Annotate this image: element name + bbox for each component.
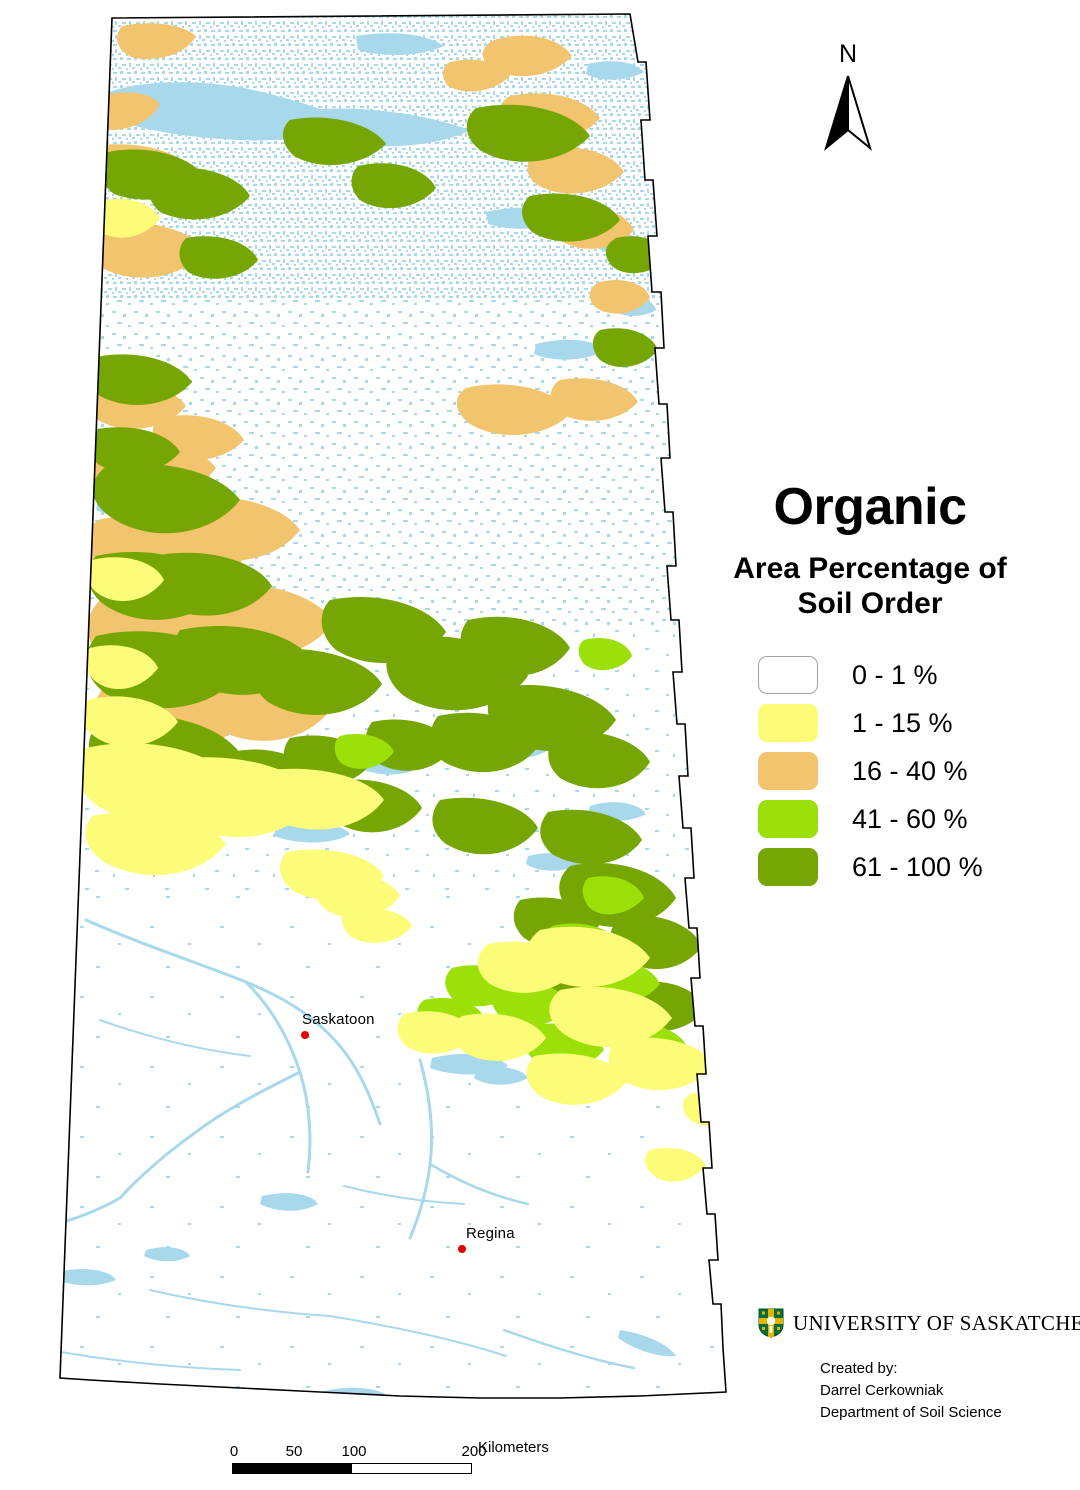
legend-item-1-15[interactable]: 1 - 15 % <box>758 699 1080 747</box>
credit-author: Darrel Cerkowniak <box>820 1380 1002 1402</box>
saskatchewan-map[interactable] <box>0 0 760 1490</box>
scale-tick-50: 50 <box>286 1443 303 1460</box>
legend-swatch-0-1 <box>758 656 818 694</box>
map-title: Organic <box>700 480 1040 535</box>
city-label-regina: Regina <box>466 1225 515 1242</box>
map-page: Saskatoon Regina N Organic Area Percenta… <box>0 0 1080 1490</box>
legend-items: 0 - 1 % 1 - 15 % 16 - 40 % 41 - 60 % 61 … <box>758 651 1080 891</box>
scale-bar-graphic <box>232 1463 472 1474</box>
legend-swatch-41-60 <box>758 800 818 838</box>
city-marker-saskatoon[interactable] <box>301 1031 309 1039</box>
legend-swatch-61-100 <box>758 848 818 886</box>
city-label-saskatoon: Saskatoon <box>302 1011 375 1028</box>
legend-item-61-100[interactable]: 61 - 100 % <box>758 843 1080 891</box>
university-shield-icon <box>758 1308 784 1338</box>
university-wordmark: UNIVERSITY OF SASKATCHEWAN <box>793 1311 1080 1336</box>
legend-label-16-40: 16 - 40 % <box>852 756 968 787</box>
map-subtitle-line1: Area Percentage of <box>700 551 1040 586</box>
north-arrow: N <box>812 40 884 155</box>
scale-bar: 0 50 100 200 Kilometers <box>232 1443 552 1474</box>
credit-department: Department of Soil Science <box>820 1402 1002 1424</box>
scale-bar-fill <box>233 1464 352 1473</box>
legend-item-41-60[interactable]: 41 - 60 % <box>758 795 1080 843</box>
scale-tick-100: 100 <box>341 1443 366 1460</box>
map-subtitle-line2: Soil Order <box>700 586 1040 621</box>
map-subtitle: Area Percentage of Soil Order <box>700 551 1040 622</box>
credit-label: Created by: <box>820 1358 1002 1380</box>
scale-tick-0: 0 <box>230 1443 238 1460</box>
scale-bar-unit: Kilometers <box>478 1439 549 1456</box>
legend-label-1-15: 1 - 15 % <box>852 708 953 739</box>
legend-item-0-1[interactable]: 0 - 1 % <box>758 651 1080 699</box>
credit-block: Created by: Darrel Cerkowniak Department… <box>820 1358 1002 1423</box>
legend-block: Organic Area Percentage of Soil Order 0 … <box>700 480 1080 891</box>
legend-swatch-1-15 <box>758 704 818 742</box>
map-canvas[interactable]: Saskatoon Regina <box>0 0 760 1490</box>
legend-label-0-1: 0 - 1 % <box>852 660 938 691</box>
city-marker-regina[interactable] <box>458 1245 466 1253</box>
legend-item-16-40[interactable]: 16 - 40 % <box>758 747 1080 795</box>
legend-label-61-100: 61 - 100 % <box>852 852 983 883</box>
north-arrow-icon <box>812 74 884 154</box>
legend-label-41-60: 41 - 60 % <box>852 804 968 835</box>
map-polygons <box>0 0 760 1490</box>
north-arrow-label: N <box>812 40 884 69</box>
legend-swatch-16-40 <box>758 752 818 790</box>
university-attribution: UNIVERSITY OF SASKATCHEWAN <box>758 1308 1080 1338</box>
